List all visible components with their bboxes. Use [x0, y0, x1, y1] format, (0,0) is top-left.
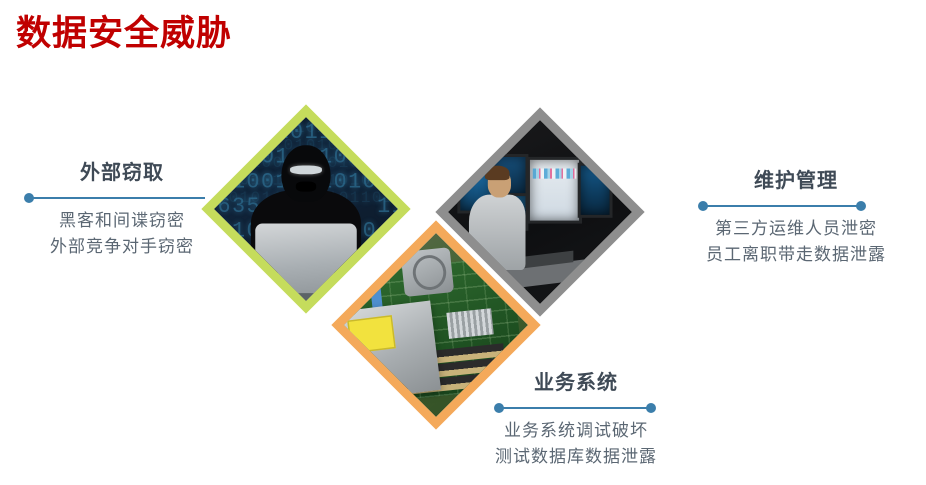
- caution-label: [347, 315, 395, 353]
- monitor-icon: [578, 163, 612, 218]
- callout-business-system: 业务系统 业务系统调试破坏 测试数据库数据泄露: [470, 370, 682, 470]
- rule-line: [499, 407, 651, 409]
- rule-line: [703, 205, 861, 207]
- rule-dot-right-icon: [646, 403, 656, 413]
- callout-rule-external-theft: [24, 192, 210, 204]
- heatsink: [446, 308, 494, 339]
- callout-heading-maintenance: 维护管理: [690, 168, 902, 194]
- callout-rule-business-system: [494, 402, 656, 414]
- callout-text-line: 业务系统调试破坏: [470, 418, 682, 444]
- cooling-fan-icon: [400, 247, 453, 297]
- hacker-laptop-photo: 0100101101001011010010110100101101 10101…: [212, 115, 401, 304]
- slide-root: 数据安全威胁 010010110100101101001011010010110…: [0, 0, 926, 485]
- callout-maintenance: 维护管理 第三方运维人员泄密 员工离职带走数据泄露: [690, 168, 902, 268]
- hacker-eyes: [290, 166, 322, 174]
- operator-body: [468, 195, 525, 270]
- page-title: 数据安全威胁: [16, 12, 232, 56]
- callout-text-line: 外部竞争对手窃密: [24, 234, 220, 260]
- callout-heading-external-theft: 外部窃取: [24, 160, 220, 186]
- laptop-icon: [255, 224, 357, 299]
- operator-hair: [485, 165, 509, 180]
- rule-line: [29, 197, 205, 199]
- callout-text-line: 第三方运维人员泄密: [690, 216, 902, 242]
- hacker-mouth-opening: [296, 181, 317, 192]
- power-supply-unit: [342, 301, 441, 403]
- callout-rule-maintenance: [698, 200, 866, 212]
- callout-text-line: 测试数据库数据泄露: [470, 444, 682, 470]
- callout-external-theft: 外部窃取 黑客和间谍窃密 外部竞争对手窃密: [24, 160, 220, 260]
- callout-text-line: 员工离职带走数据泄露: [690, 242, 902, 268]
- monitor-icon: [527, 157, 582, 223]
- callout-text-line: 黑客和间谍窃密: [24, 208, 220, 234]
- callout-heading-business-system: 业务系统: [470, 370, 682, 396]
- rule-dot-right-icon: [856, 201, 866, 211]
